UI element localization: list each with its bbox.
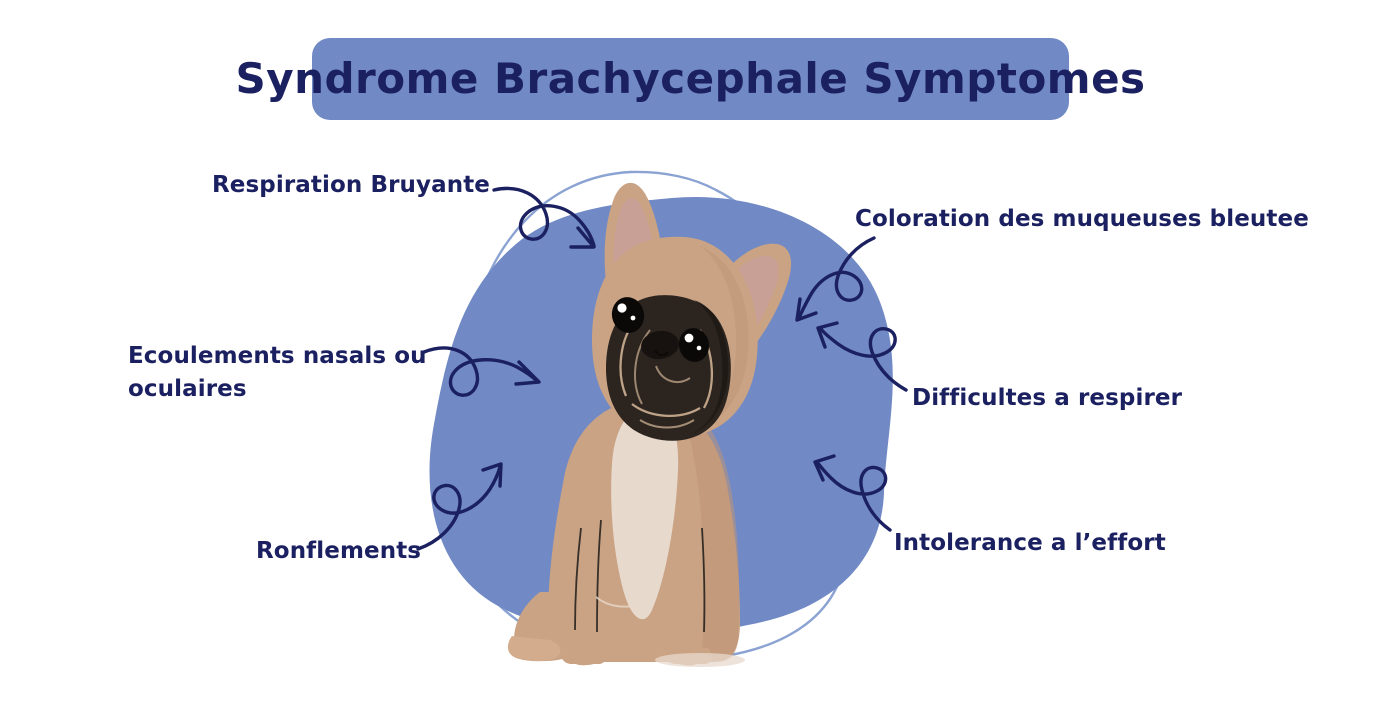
callout-label-ronflements: Ronflements <box>256 535 421 568</box>
infographic-canvas: Syndrome Brachycephale Symptomes Respira… <box>0 0 1376 706</box>
arrow-respiration-bruyante <box>494 188 594 247</box>
arrow-ecoulements <box>424 348 539 395</box>
callout-label-ecoulements-nasals-ou-oculaires: Ecoulements nasals ou oculaires <box>128 340 428 407</box>
dog-illustration <box>508 183 791 667</box>
callout-label-coloration-des-muqueuses-bleutee: Coloration des muqueuses bleutee <box>855 203 1309 236</box>
arrow-ronflements <box>418 464 501 549</box>
arrow-intolerance <box>815 456 890 530</box>
page-title: Syndrome Brachycephale Symptomes <box>235 58 1145 100</box>
arrow-difficultes <box>818 323 906 390</box>
arrow-coloration <box>797 238 874 320</box>
outline-swoosh <box>454 172 846 661</box>
callout-label-respiration-bruyante: Respiration Bruyante <box>212 169 490 202</box>
blue-blob <box>430 197 893 635</box>
callout-label-difficultes-a-respirer: Difficultes a respirer <box>912 382 1182 415</box>
callout-label-intolerance-a-leffort: Intolerance a l’effort <box>894 527 1166 560</box>
title-banner: Syndrome Brachycephale Symptomes <box>312 38 1069 120</box>
